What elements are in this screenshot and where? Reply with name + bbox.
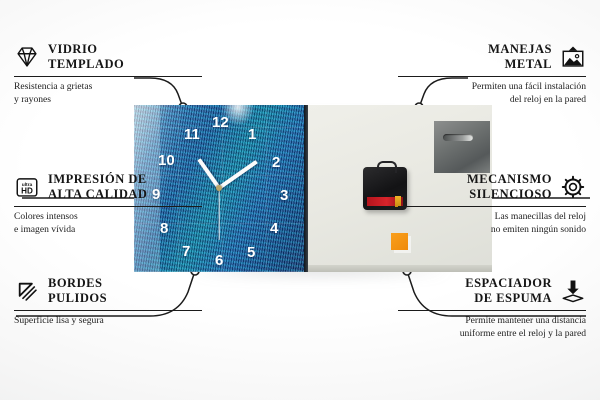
feature-desc-line1: Permiten una fácil instalación: [398, 81, 586, 94]
foam-spacer-icon: [560, 278, 586, 304]
ultra-hd-icon: ultra HD: [14, 174, 40, 200]
feature-title: MECANISMO SILENCIOSO: [467, 172, 552, 202]
feature-rule: [398, 206, 586, 208]
clock-numeral-3: 3: [280, 188, 288, 203]
feature-description: Colores intensos e imagen vívida: [14, 211, 202, 237]
feature-desc-line2: no emiten ningún sonido: [398, 224, 586, 237]
feature-title-line2: TEMPLADO: [48, 57, 124, 72]
feature-desc-line1: Resistencia a grietas: [14, 81, 202, 94]
feature-description: Permiten una fácil instalación del reloj…: [398, 81, 586, 107]
feature-desc-line2: y rayones: [14, 94, 202, 107]
feature-title: VIDRIO TEMPLADO: [48, 42, 124, 72]
feature-description: Resistencia a grietas y rayones: [14, 81, 202, 107]
feature-espaciador-de-espuma: ESPACIADOR DE ESPUMA Permite mantener un…: [398, 276, 586, 341]
picture-frame-icon: [560, 44, 586, 70]
hand-center-cap: [216, 185, 222, 191]
polished-edges-icon: [14, 278, 40, 304]
clock-numeral-11: 11: [184, 127, 200, 142]
feature-desc-line2: e imagen vívida: [14, 224, 202, 237]
feature-head: MECANISMO SILENCIOSO: [398, 172, 586, 202]
feature-title-line2: DE ESPUMA: [465, 291, 552, 306]
feature-rule: [398, 76, 586, 78]
feature-title: ESPACIADOR DE ESPUMA: [465, 276, 552, 306]
feature-vidrio-templado: VIDRIO TEMPLADO Resistencia a grietas y …: [14, 42, 202, 107]
clock-numeral-5: 5: [247, 245, 255, 260]
svg-text:HD: HD: [21, 186, 33, 195]
feature-head: BORDES PULIDOS: [14, 276, 202, 306]
feature-impresion-alta-calidad: ultra HD IMPRESIÓN DE ALTA CALIDAD Color…: [14, 172, 202, 237]
feature-head: ESPACIADOR DE ESPUMA: [398, 276, 586, 306]
feature-rule: [398, 310, 586, 312]
clock-numeral-4: 4: [270, 221, 278, 236]
feature-manejas-metal: MANEJAS METAL Permiten una fácil instala…: [398, 42, 586, 107]
clock-numeral-1: 1: [248, 127, 256, 142]
metal-hanger: [434, 121, 490, 173]
feature-title: IMPRESIÓN DE ALTA CALIDAD: [48, 172, 147, 202]
mechanism-loop: [377, 161, 397, 173]
second-hand: [218, 188, 219, 240]
feature-desc-line2: uniforme entre el reloj y la pared: [398, 328, 586, 341]
diamond-icon: [14, 44, 40, 70]
clock-numeral-2: 2: [272, 155, 280, 170]
clock-numeral-12: 12: [212, 115, 229, 130]
feature-rule: [14, 310, 202, 312]
feature-head: ultra HD IMPRESIÓN DE ALTA CALIDAD: [14, 172, 202, 202]
feature-desc-line1: Colores intensos: [14, 211, 202, 224]
clock-numeral-7: 7: [182, 244, 190, 259]
feature-desc-line1: Superficie lisa y segura: [14, 315, 202, 328]
feature-bordes-pulidos: BORDES PULIDOS Superficie lisa y segura: [14, 276, 202, 328]
feature-description: Superficie lisa y segura: [14, 315, 202, 328]
gear-icon: [560, 174, 586, 200]
feature-desc-line2: del reloj en la pared: [398, 94, 586, 107]
feature-title-line2: METAL: [488, 57, 552, 72]
feature-title-line1: MECANISMO: [467, 172, 552, 187]
feature-title: BORDES PULIDOS: [48, 276, 107, 306]
feature-title-line1: VIDRIO: [48, 42, 124, 57]
feature-desc-line1: Permite mantener una distancia: [398, 315, 586, 328]
minute-hand: [218, 160, 258, 190]
feature-mecanismo-silencioso: MECANISMO SILENCIOSO Las manecillas del …: [398, 172, 586, 237]
clock-numeral-10: 10: [158, 153, 175, 168]
feature-rule: [14, 76, 202, 78]
feature-head: MANEJAS METAL: [398, 42, 586, 72]
feature-title-line2: SILENCIOSO: [467, 187, 552, 202]
feature-title-line1: MANEJAS: [488, 42, 552, 57]
feature-description: Permite mantener una distancia uniforme …: [398, 315, 586, 341]
feature-desc-line1: Las manecillas del reloj: [398, 211, 586, 224]
hanger-slot: [443, 134, 473, 141]
clock-numeral-6: 6: [215, 253, 223, 268]
feature-description: Las manecillas del reloj no emiten ningú…: [398, 211, 586, 237]
feature-title-line2: PULIDOS: [48, 291, 107, 306]
infographic-canvas: 12 1 2 3 4 5 6 7 8 9 10 11: [0, 0, 600, 400]
feature-title-line1: ESPACIADOR: [465, 276, 552, 291]
feature-title-line2: ALTA CALIDAD: [48, 187, 147, 202]
feature-head: VIDRIO TEMPLADO: [14, 42, 202, 72]
feature-title: MANEJAS METAL: [488, 42, 552, 72]
feature-rule: [14, 206, 202, 208]
feature-title-line1: BORDES: [48, 276, 107, 291]
feature-title-line1: IMPRESIÓN DE: [48, 172, 147, 187]
